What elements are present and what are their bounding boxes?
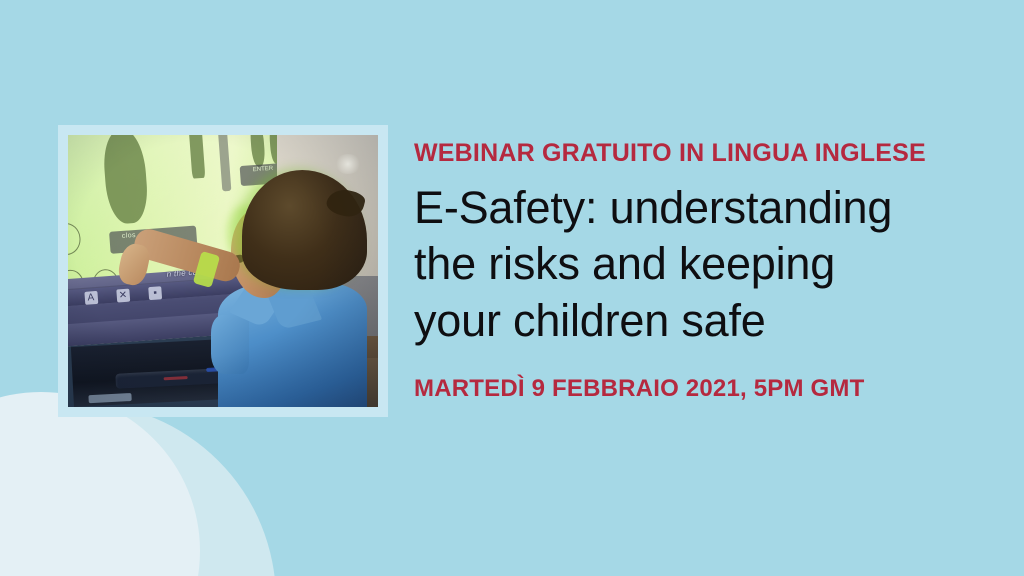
promo-text-block: WEBINAR GRATUITO IN LINGUA INGLESE E-Saf… xyxy=(414,140,994,403)
photo-image: ENTER clos n the cards. EMAIL MENU A ✕ ▪… xyxy=(68,135,378,407)
page-title: E-Safety: understanding the risks and ke… xyxy=(414,180,994,350)
event-dateline: MARTEDÌ 9 FEBBRAIO 2021, 5PM GMT xyxy=(414,375,994,403)
headline-line-3: your children safe xyxy=(414,293,994,350)
photo-card: ENTER clos n the cards. EMAIL MENU A ✕ ▪… xyxy=(58,125,388,417)
headline-line-1: E-Safety: understanding xyxy=(414,180,994,237)
decorative-circle-outer xyxy=(0,403,276,576)
decorative-circle-inner xyxy=(0,392,200,576)
photo-vignette xyxy=(68,135,378,407)
webinar-eyebrow: WEBINAR GRATUITO IN LINGUA INGLESE xyxy=(414,140,994,168)
headline-line-2: the risks and keeping xyxy=(414,236,994,293)
